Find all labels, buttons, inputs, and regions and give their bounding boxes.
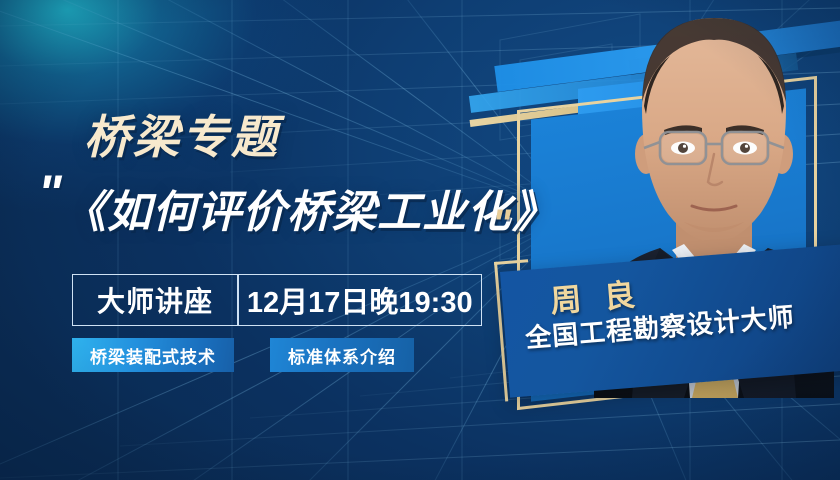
lecture-datetime: 12月17日晚19:30 <box>239 275 482 325</box>
quote-close-mark: " <box>492 204 511 244</box>
lecture-type-label: 大师讲座 <box>73 275 237 325</box>
quote-open-mark: " <box>38 168 62 218</box>
lecture-subtitle: 《如何评价桥梁工业化》 <box>62 176 557 240</box>
lecture-info-bar: 大师讲座 12月17日晚19:30 <box>72 274 482 326</box>
webinar-poster: 桥梁专题 " 《如何评价桥梁工业化》 " 大师讲座 12月17日晚19:30 桥… <box>0 0 840 480</box>
topic-tag-2[interactable]: 标准体系介绍 <box>270 338 414 372</box>
speaker-nameplate: 周 良 全国工程勘察设计大师 <box>500 244 840 398</box>
page-title: 桥梁专题 <box>84 101 280 167</box>
topic-tag-1[interactable]: 桥梁装配式技术 <box>72 338 234 372</box>
topic-tag-list: 桥梁装配式技术 标准体系介绍 <box>72 338 414 372</box>
